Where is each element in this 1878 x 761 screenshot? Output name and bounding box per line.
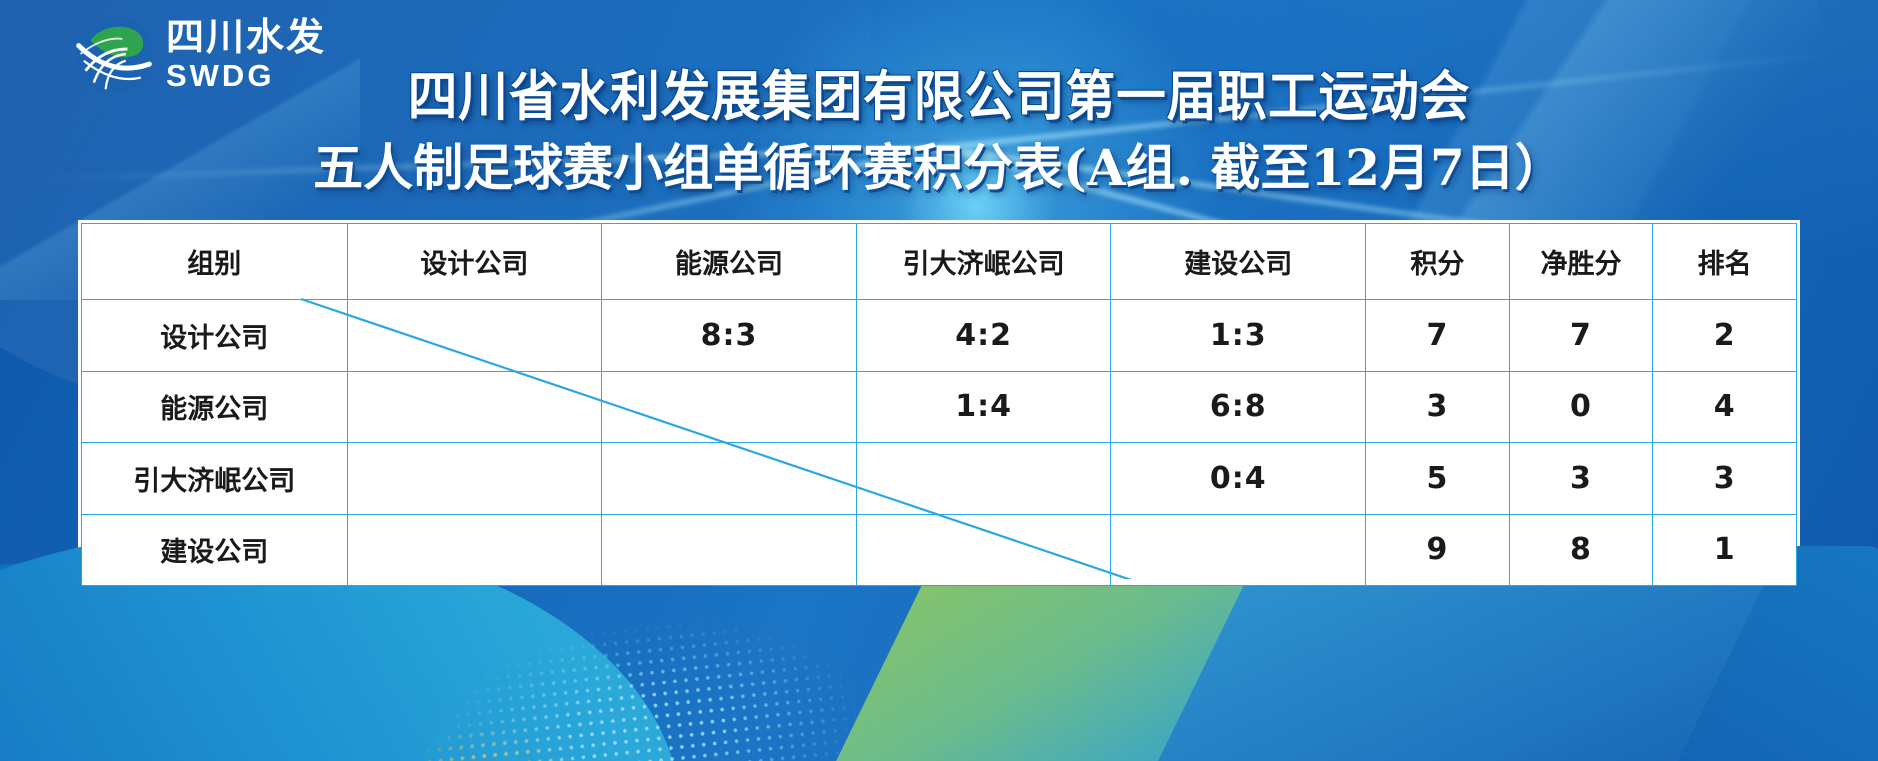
page-subtitle: 五人制足球赛小组单循环赛积分表(A组. 截至12月7日）: [0, 128, 1878, 200]
table-header-row: 组别 设计公司 能源公司 引大济岷公司 建设公司 积分 净胜分 排名: [82, 224, 1797, 300]
rank-cell: 3: [1653, 443, 1797, 515]
standings-table: 组别 设计公司 能源公司 引大济岷公司 建设公司 积分 净胜分 排名 设计公司 …: [81, 223, 1797, 586]
rank-cell: 2: [1653, 300, 1797, 372]
column-header-goal-diff: 净胜分: [1509, 224, 1653, 300]
match-score-cell: 1:3: [1111, 300, 1366, 372]
match-score-cell: [1111, 514, 1366, 586]
row-team-name: 设计公司: [82, 300, 348, 372]
table-row: 引大济岷公司 0:4 5 3 3: [82, 443, 1797, 515]
match-score-cell: [602, 371, 857, 443]
rank-cell: 4: [1653, 371, 1797, 443]
row-team-name: 建设公司: [82, 514, 348, 586]
column-header-design: 设计公司: [347, 224, 602, 300]
column-header-rank: 排名: [1653, 224, 1797, 300]
column-header-yindajimin: 引大济岷公司: [856, 224, 1111, 300]
match-score-cell: 6:8: [1111, 371, 1366, 443]
points-cell: 7: [1366, 300, 1510, 372]
rank-cell: 1: [1653, 514, 1797, 586]
column-header-points: 积分: [1366, 224, 1510, 300]
match-score-cell: 8:3: [602, 300, 857, 372]
table-row: 设计公司 8:3 4:2 1:3 7 7 2: [82, 300, 1797, 372]
goal-diff-cell: 8: [1509, 514, 1653, 586]
poster-background: 四川水发 SWDG 四川省水利发展集团有限公司第一届职工运动会 五人制足球赛小组…: [0, 0, 1878, 761]
match-score-cell: [856, 443, 1111, 515]
standings-table-container: 组别 设计公司 能源公司 引大济岷公司 建设公司 积分 净胜分 排名 设计公司 …: [78, 220, 1800, 582]
points-cell: 5: [1366, 443, 1510, 515]
points-cell: 9: [1366, 514, 1510, 586]
row-team-name: 能源公司: [82, 371, 348, 443]
goal-diff-cell: 7: [1509, 300, 1653, 372]
match-score-cell: [602, 443, 857, 515]
match-score-cell: [347, 371, 602, 443]
match-score-cell: [602, 514, 857, 586]
column-header-construction: 建设公司: [1111, 224, 1366, 300]
goal-diff-cell: 0: [1509, 371, 1653, 443]
match-score-cell: [347, 300, 602, 372]
table-row: 建设公司 9 8 1: [82, 514, 1797, 586]
match-score-cell: [856, 514, 1111, 586]
match-score-cell: [347, 443, 602, 515]
table-row: 能源公司 1:4 6:8 3 0 4: [82, 371, 1797, 443]
points-cell: 3: [1366, 371, 1510, 443]
column-header-energy: 能源公司: [602, 224, 857, 300]
column-header-group: 组别: [82, 224, 348, 300]
match-score-cell: [347, 514, 602, 586]
match-score-cell: 1:4: [856, 371, 1111, 443]
match-score-cell: 0:4: [1111, 443, 1366, 515]
match-score-cell: 4:2: [856, 300, 1111, 372]
logo-chinese-text: 四川水发: [166, 18, 326, 56]
page-title: 四川省水利发展集团有限公司第一届职工运动会: [75, 52, 1803, 131]
row-team-name: 引大济岷公司: [82, 443, 348, 515]
goal-diff-cell: 3: [1509, 443, 1653, 515]
